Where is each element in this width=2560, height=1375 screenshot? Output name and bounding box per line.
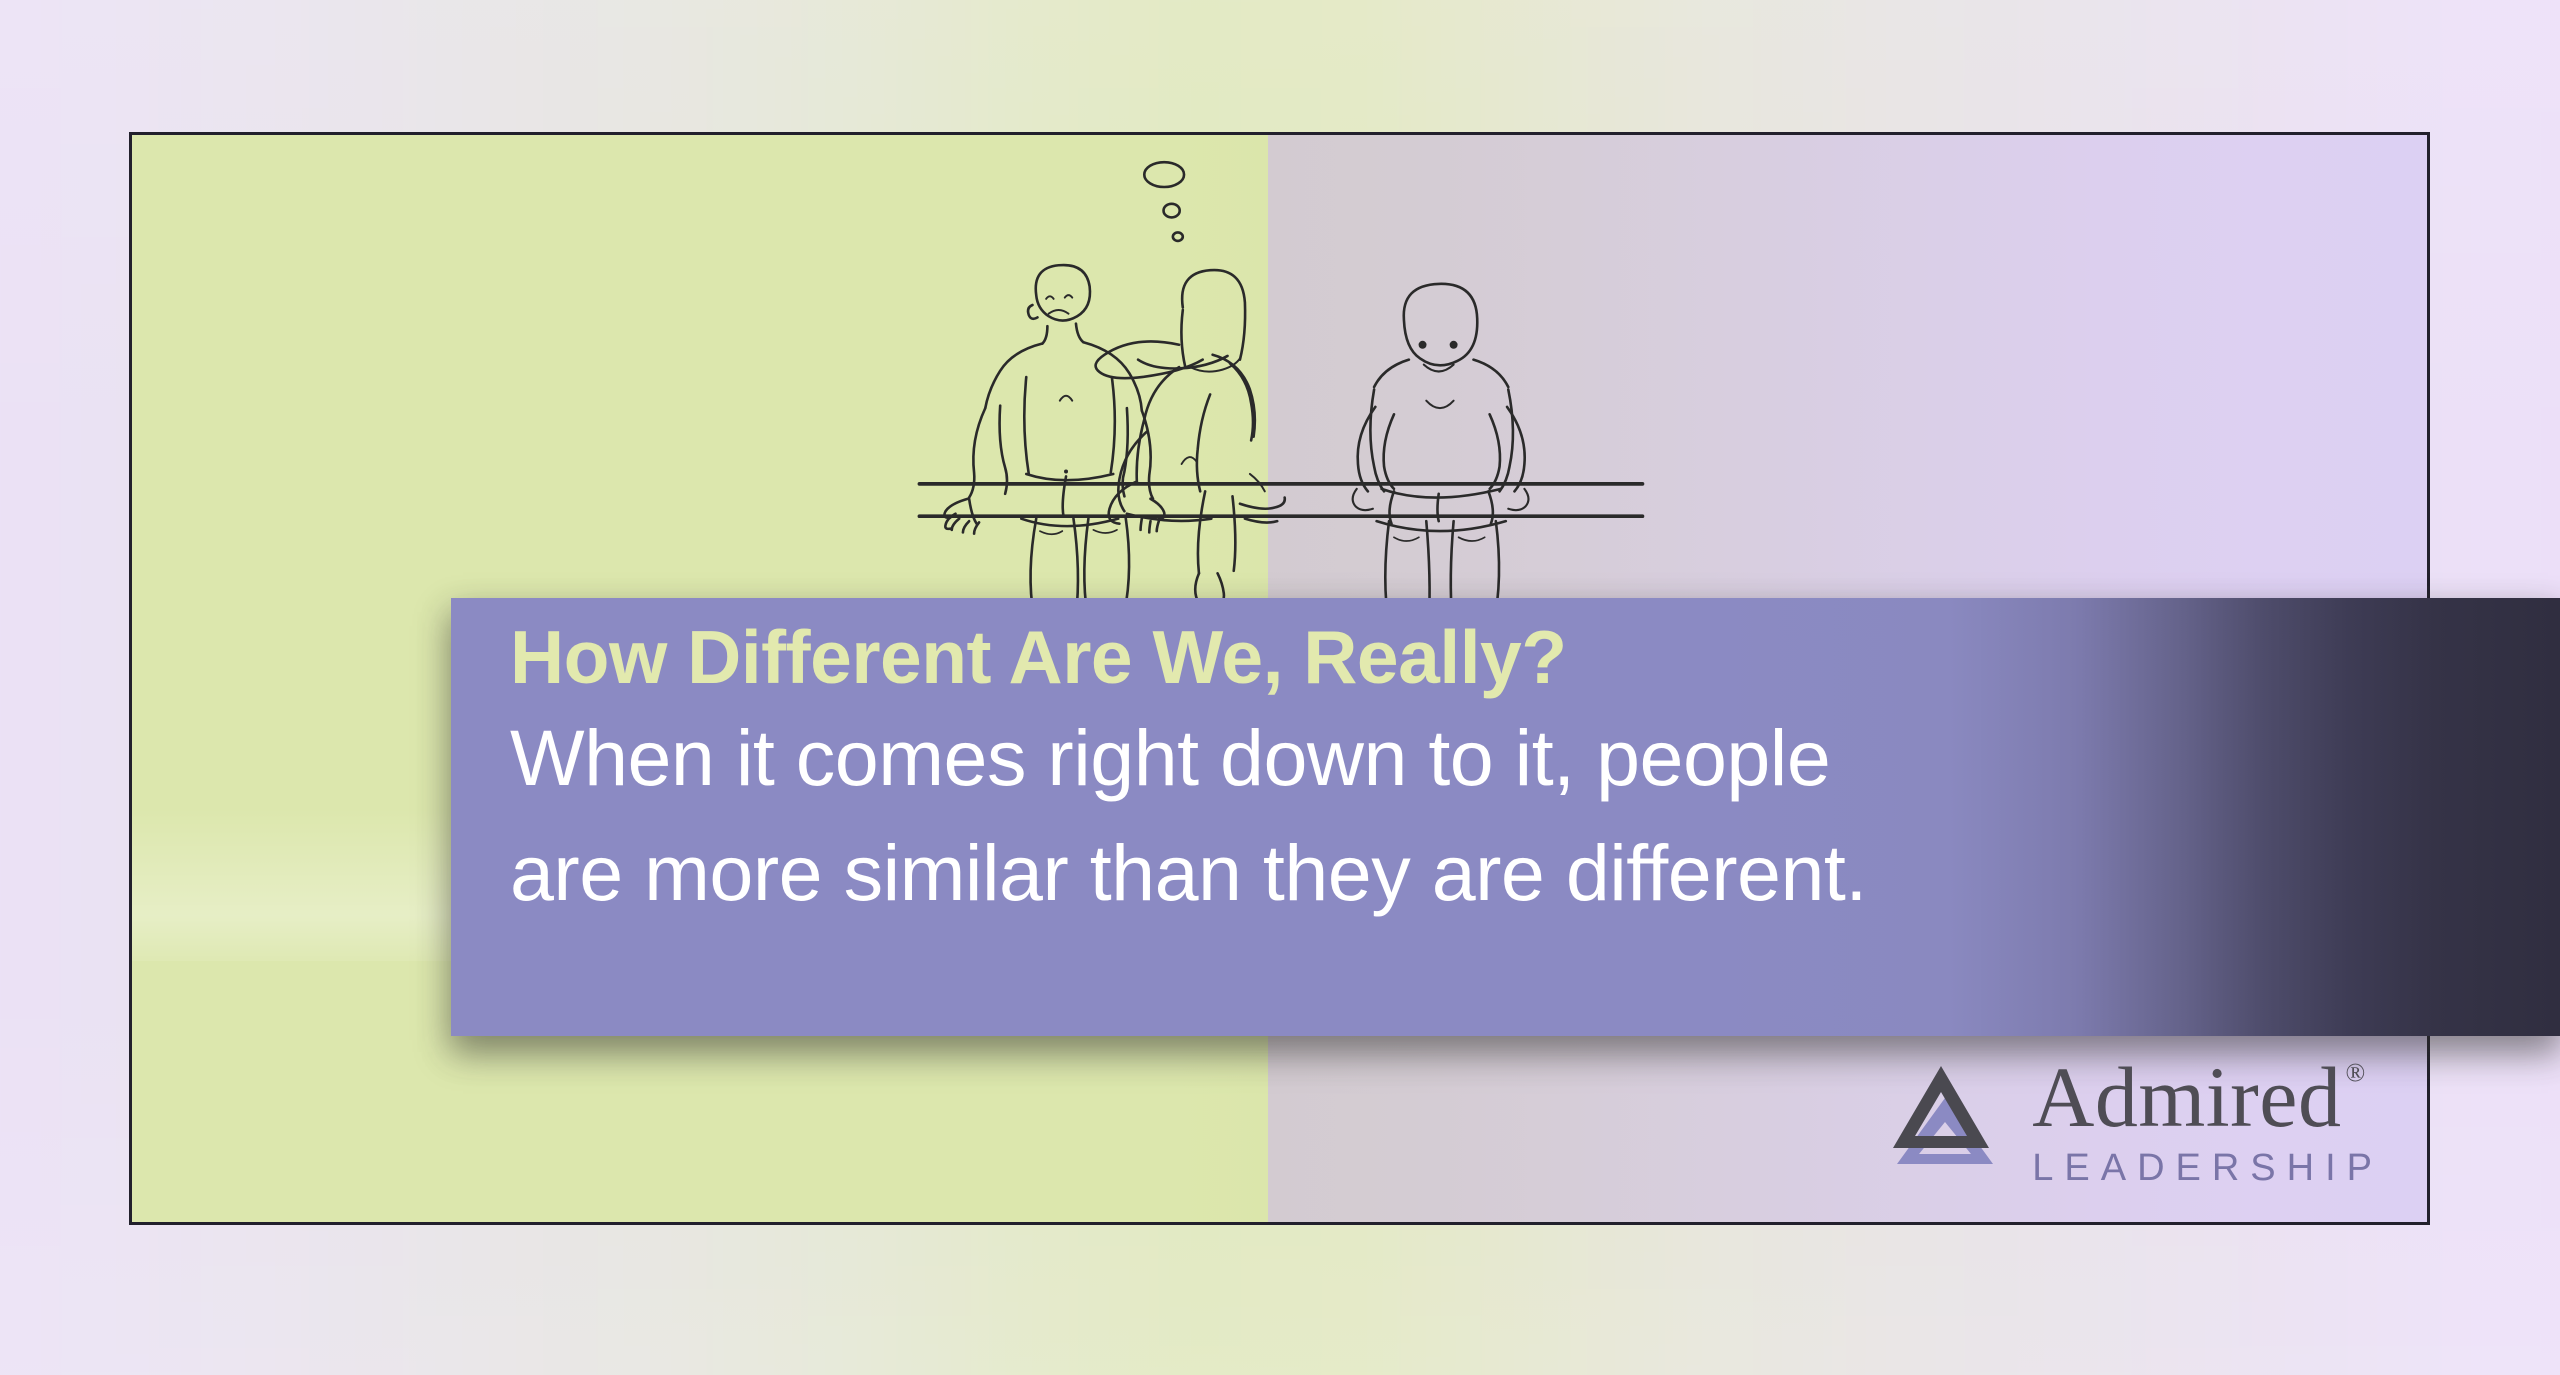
caption-text-block: How Different Are We, Really? When it co… — [510, 616, 1840, 930]
caption-band: How Different Are We, Really? When it co… — [451, 598, 2560, 1036]
admired-leadership-logo: Admired ® LEADERSHIP — [1888, 1054, 2389, 1190]
three-people-sitting-on-bench-line-drawing — [683, 146, 1876, 668]
headline: How Different Are We, Really? — [510, 616, 1840, 698]
figure-center-with-hat — [1095, 270, 1284, 610]
logo-sub-wordmark-leadership: LEADERSHIP — [2032, 1146, 2389, 1190]
subtitle-line-1: When it comes right down to it, people — [510, 700, 1840, 815]
admired-triangle-logo-icon — [1888, 1060, 2010, 1172]
logo-wordmark-admired: Admired — [2032, 1054, 2341, 1140]
screenshot-root: Admired ® LEADERSHIP How Different Are W… — [0, 0, 2560, 1375]
logo-wordmark-group: Admired ® LEADERSHIP — [2032, 1054, 2389, 1190]
subtitle-line-2: are more similar than they are different… — [510, 815, 1840, 930]
registered-trademark-icon: ® — [2345, 1058, 2365, 1088]
figure-left-frowning — [944, 265, 1164, 656]
bench-rails — [919, 484, 1642, 516]
thought-bubble — [1144, 162, 1184, 241]
